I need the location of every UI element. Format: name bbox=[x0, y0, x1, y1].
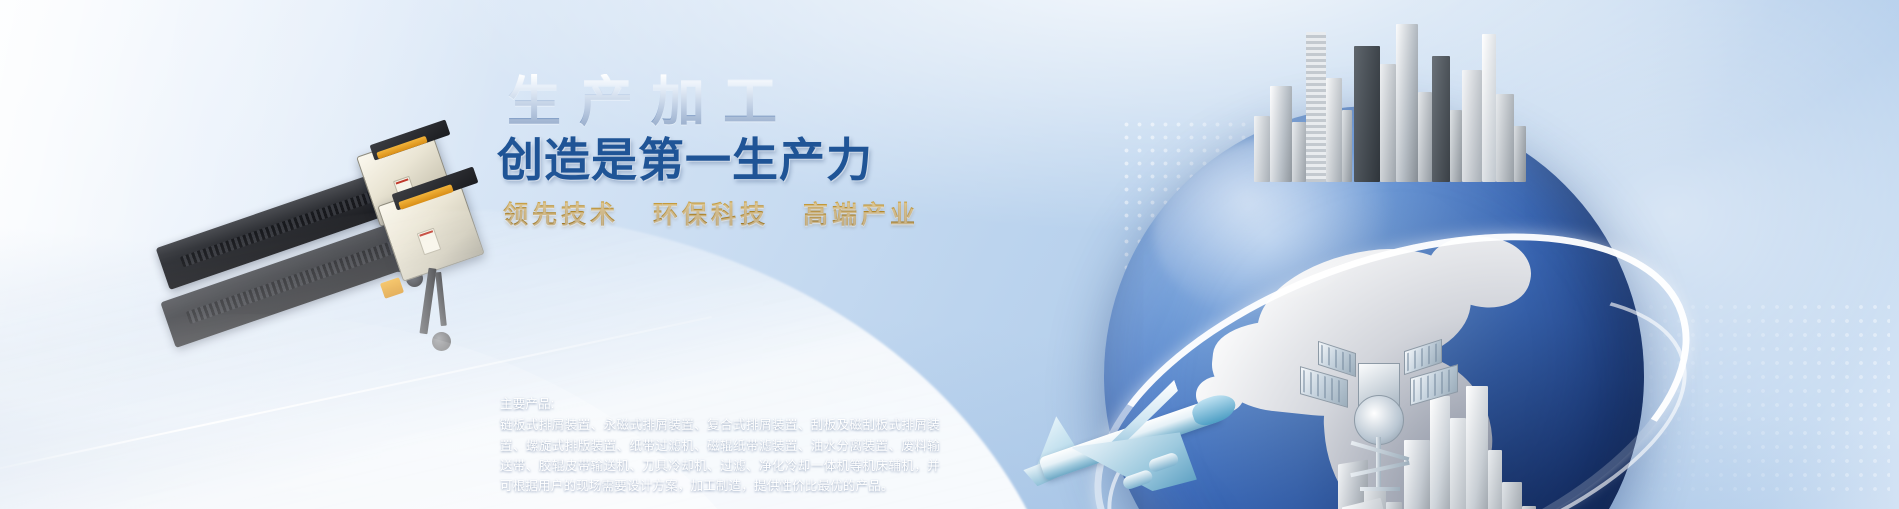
support-mast bbox=[1360, 487, 1400, 491]
tower-shape bbox=[1270, 86, 1292, 182]
tagline-item-3: 高端产业 bbox=[803, 195, 919, 231]
nose-cone bbox=[1189, 390, 1239, 429]
solar-panel bbox=[1318, 341, 1356, 377]
tower-shape bbox=[1396, 24, 1418, 182]
orbital-satellite bbox=[1300, 345, 1464, 509]
banner-title: 生产加工 bbox=[507, 74, 967, 130]
banner-subtitle: 创造是第一生产力 bbox=[497, 136, 967, 185]
headline-block: 生产加工 创造是第一生产力 领先技术 环保科技 高端产业 bbox=[497, 74, 967, 231]
tower-shape bbox=[1482, 34, 1496, 182]
description-heading: 主要产品: bbox=[500, 394, 940, 414]
tower-shape bbox=[1418, 92, 1432, 182]
tower-shape bbox=[1432, 56, 1450, 182]
support-mast bbox=[1376, 437, 1381, 491]
tower-shape bbox=[1354, 46, 1380, 182]
tower-shape bbox=[1450, 110, 1462, 182]
tower-shape bbox=[1306, 32, 1326, 182]
tower-shape bbox=[1292, 122, 1306, 182]
tower-shape bbox=[1326, 78, 1342, 182]
tower-shape bbox=[1254, 116, 1270, 182]
tagline-item-2: 环保科技 bbox=[653, 195, 769, 231]
tower-shape bbox=[1514, 126, 1526, 182]
description-body: 链板式排屑装置、永磁式排屑装置、复合式排屑装置、刮板及磁刮板式排屑装置、螺旋式排… bbox=[500, 415, 940, 496]
tower-shape bbox=[1496, 94, 1514, 182]
tagline-item-1: 领先技术 bbox=[503, 195, 619, 231]
product-description: 主要产品: 链板式排屑装置、永磁式排屑装置、复合式排屑装置、刮板及磁刮板式排屑装… bbox=[500, 394, 940, 496]
tower-shape bbox=[1462, 70, 1482, 182]
skyscraper-cluster bbox=[1250, 2, 1550, 182]
tower-shape bbox=[1380, 64, 1396, 182]
tower-shape bbox=[1342, 110, 1352, 182]
tagline-row: 领先技术 环保科技 高端产业 bbox=[503, 195, 967, 231]
promotional-banner: 生产加工 创造是第一生产力 领先技术 环保科技 高端产业 主要产品: 链板式排屑… bbox=[0, 0, 1899, 509]
